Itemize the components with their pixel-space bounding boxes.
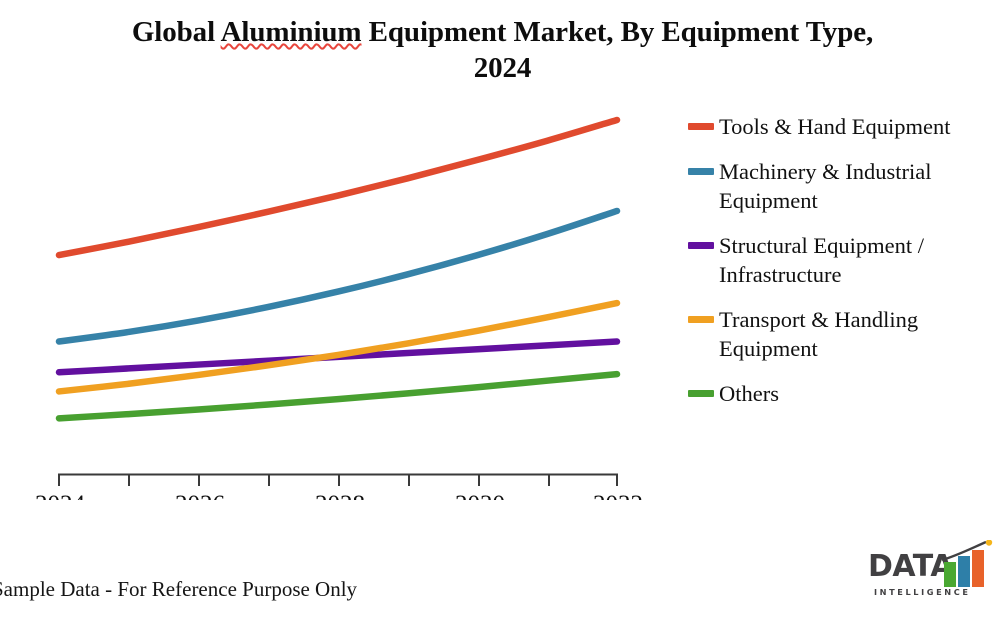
legend-label: Transport & Handling Equipment bbox=[719, 305, 991, 363]
legend-item-tools-hand-equipment[interactable]: Tools & Hand Equipment bbox=[688, 112, 1000, 141]
logo-wordmark: DATA bbox=[868, 549, 954, 584]
legend-item-others[interactable]: Others bbox=[688, 379, 1000, 408]
legend-swatch-icon bbox=[688, 390, 714, 397]
legend-label: Structural Equipment / Infrastructure bbox=[719, 231, 991, 289]
legend-label: Others bbox=[719, 379, 779, 408]
series-layer bbox=[59, 120, 617, 418]
data-intelligence-logo: DATA INTELLIGENCE bbox=[866, 540, 998, 602]
x-tick-label-4: 2032 bbox=[593, 491, 643, 500]
x-axis-tick-labels: 2024 2026 2028 2030 2032 bbox=[35, 491, 643, 500]
legend-swatch-icon bbox=[688, 168, 714, 175]
legend-swatch-icon bbox=[688, 242, 714, 249]
legend-swatch-icon bbox=[688, 316, 714, 323]
chart-root: Global Aluminium Equipment Market, By Eq… bbox=[0, 0, 1005, 630]
logo-bars-icon bbox=[942, 540, 992, 587]
legend-label: Machinery & Industrial Equipment bbox=[719, 157, 991, 215]
logo-dot-icon bbox=[986, 540, 992, 546]
legend-item-machinery-industrial-equipment[interactable]: Machinery & Industrial Equipment bbox=[688, 157, 1000, 215]
x-axis-ticks bbox=[59, 474, 617, 486]
logo-svg: DATA INTELLIGENCE bbox=[866, 540, 998, 602]
sample-data-note: Sample Data - For Reference Purpose Only bbox=[0, 576, 357, 602]
legend-label: Tools & Hand Equipment bbox=[719, 112, 951, 141]
series-line-tools-hand-equipment bbox=[59, 120, 617, 255]
x-axis bbox=[58, 474, 618, 486]
plot-area: 2024 2026 2028 2030 2032 bbox=[0, 0, 700, 500]
legend-item-structural-equipment-infrastructure[interactable]: Structural Equipment / Infrastructure bbox=[688, 231, 1000, 289]
x-tick-label-2: 2028 bbox=[315, 491, 365, 500]
x-tick-label-3: 2030 bbox=[455, 491, 505, 500]
x-tick-label-0: 2024 bbox=[35, 491, 86, 500]
x-tick-label-1: 2026 bbox=[175, 491, 225, 500]
line-chart-svg: 2024 2026 2028 2030 2032 bbox=[0, 0, 700, 500]
chart-legend: Tools & Hand Equipment Machinery & Indus… bbox=[688, 112, 1000, 424]
legend-item-transport-handling-equipment[interactable]: Transport & Handling Equipment bbox=[688, 305, 1000, 363]
legend-swatch-icon bbox=[688, 123, 714, 130]
logo-submark: INTELLIGENCE bbox=[874, 587, 971, 597]
